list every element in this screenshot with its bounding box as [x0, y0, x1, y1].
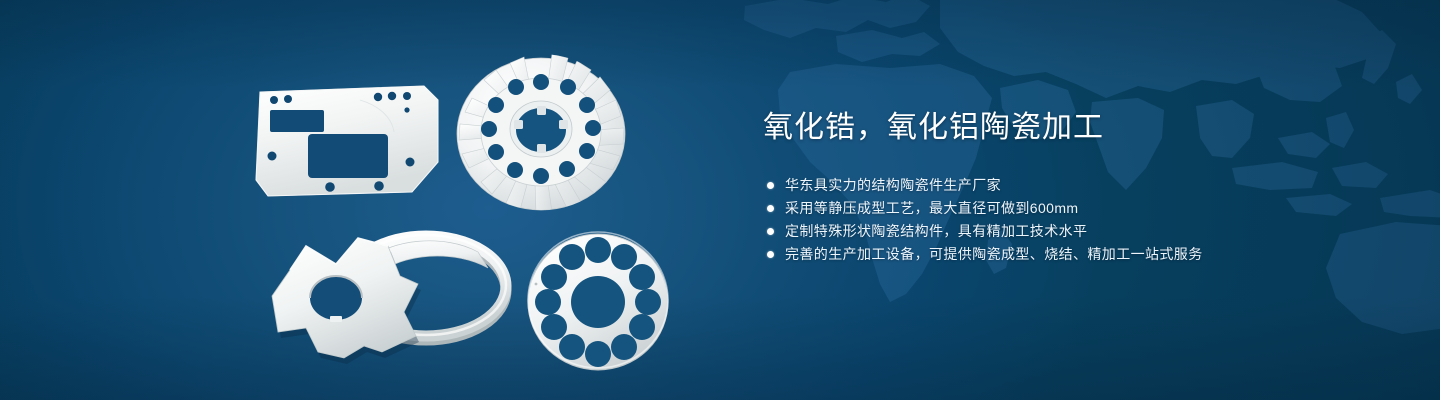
page-title: 氧化锆，氧化铝陶瓷加工 [763, 108, 1403, 148]
product-photo-cluster [0, 0, 760, 400]
bullet-dot-icon [767, 205, 774, 212]
list-item-label: 华东具实力的结构陶瓷件生产厂家 [785, 177, 1001, 193]
list-item: 采用等静压成型工艺，最大直径可做到600mm [763, 197, 1403, 220]
ceramic-impeller [448, 48, 634, 224]
bullet-dot-icon [767, 182, 774, 189]
ceramic-mounting-plate [252, 76, 452, 204]
list-item: 定制特殊形状陶瓷结构件，具有精加工技术水平 [763, 220, 1403, 243]
list-item-label: 完善的生产加工设备，可提供陶瓷成型、烧结、精加工一站式服务 [785, 246, 1203, 262]
bullet-dot-icon [767, 228, 774, 235]
list-item-label: 定制特殊形状陶瓷结构件，具有精加工技术水平 [785, 223, 1087, 239]
list-item: 华东具实力的结构陶瓷件生产厂家 [763, 174, 1403, 197]
banner-copy: 氧化锆，氧化铝陶瓷加工 华东具实力的结构陶瓷件生产厂家 采用等静压成型工艺，最大… [763, 108, 1403, 266]
list-item-label: 采用等静压成型工艺，最大直径可做到600mm [785, 200, 1078, 216]
ceramic-hole-disc [520, 222, 680, 380]
hero-banner: 氧化锆，氧化铝陶瓷加工 华东具实力的结构陶瓷件生产厂家 采用等静压成型工艺，最大… [0, 0, 1440, 400]
feature-list: 华东具实力的结构陶瓷件生产厂家 采用等静压成型工艺，最大直径可做到600mm 定… [763, 174, 1403, 266]
ceramic-cross-part [248, 224, 438, 370]
list-item: 完善的生产加工设备，可提供陶瓷成型、烧结、精加工一站式服务 [763, 243, 1403, 266]
bullet-dot-icon [767, 251, 774, 258]
